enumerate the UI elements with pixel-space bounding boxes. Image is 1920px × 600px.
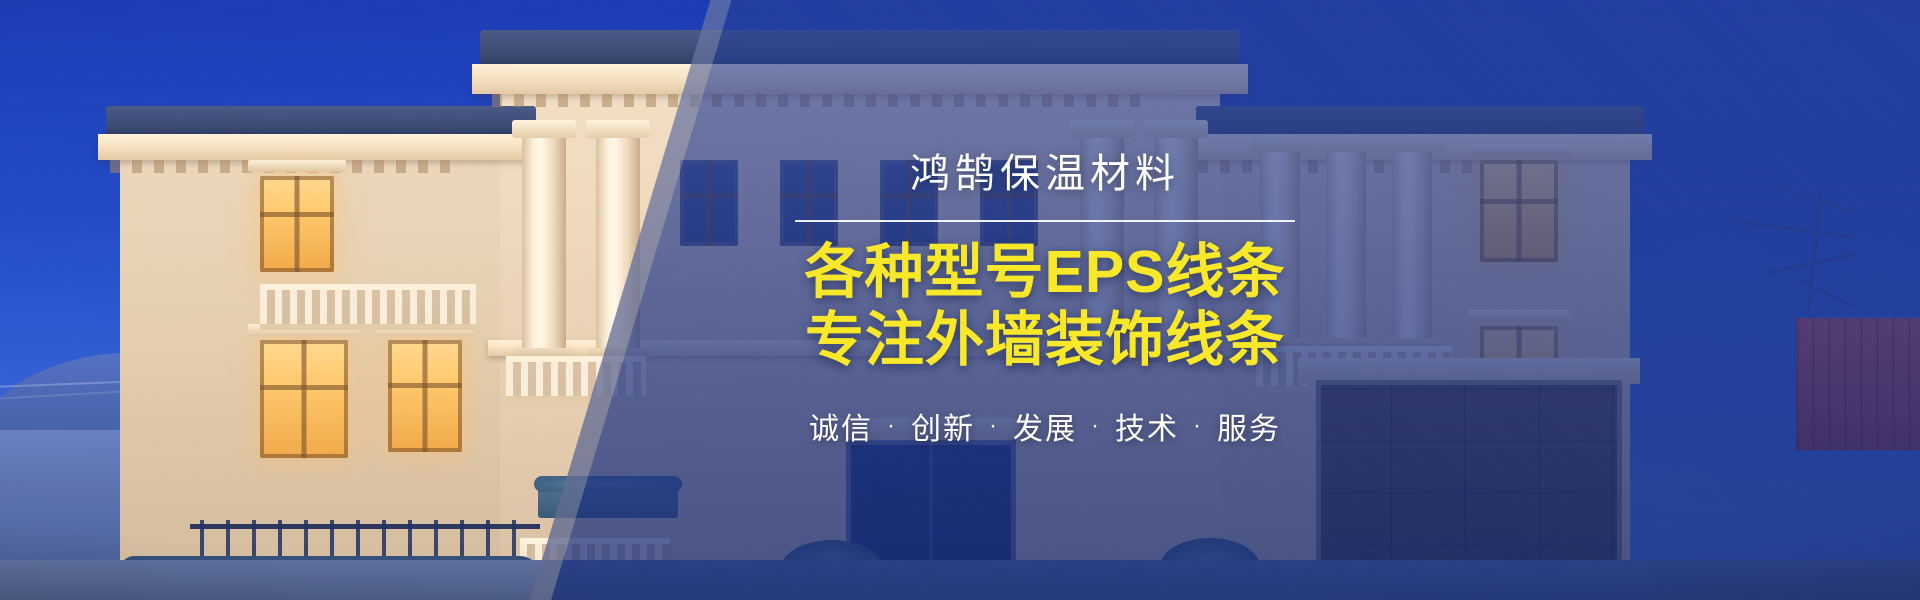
text-block: 鸿鹄保温材料 各种型号EPS线条 专注外墙装饰线条 诚信·创新·发展·技术·服务 [765,152,1325,449]
tagline: 诚信·创新·发展·技术·服务 [809,404,1281,448]
tagline-item: 技术 [1115,404,1179,448]
tagline-separator: · [989,412,999,440]
promo-banner: 鸿鹄保温材料 各种型号EPS线条 专注外墙装饰线条 诚信·创新·发展·技术·服务 [0,0,1920,600]
tagline-item: 服务 [1217,404,1281,448]
tagline-separator: · [887,412,897,440]
tagline-item: 创新 [911,404,975,448]
banner-content: 鸿鹄保温材料 各种型号EPS线条 专注外墙装饰线条 诚信·创新·发展·技术·服务 [0,0,1920,600]
tagline-item: 诚信 [809,404,873,448]
tagline-item: 发展 [1013,404,1077,448]
brand-name: 鸿鹄保温材料 [910,152,1180,196]
tagline-separator: · [1193,412,1203,440]
headline-line-1: 各种型号EPS线条 [804,238,1285,306]
tagline-separator: · [1091,412,1101,440]
headline-line-2: 专注外墙装饰线条 [805,306,1285,374]
divider-rule [795,220,1295,222]
